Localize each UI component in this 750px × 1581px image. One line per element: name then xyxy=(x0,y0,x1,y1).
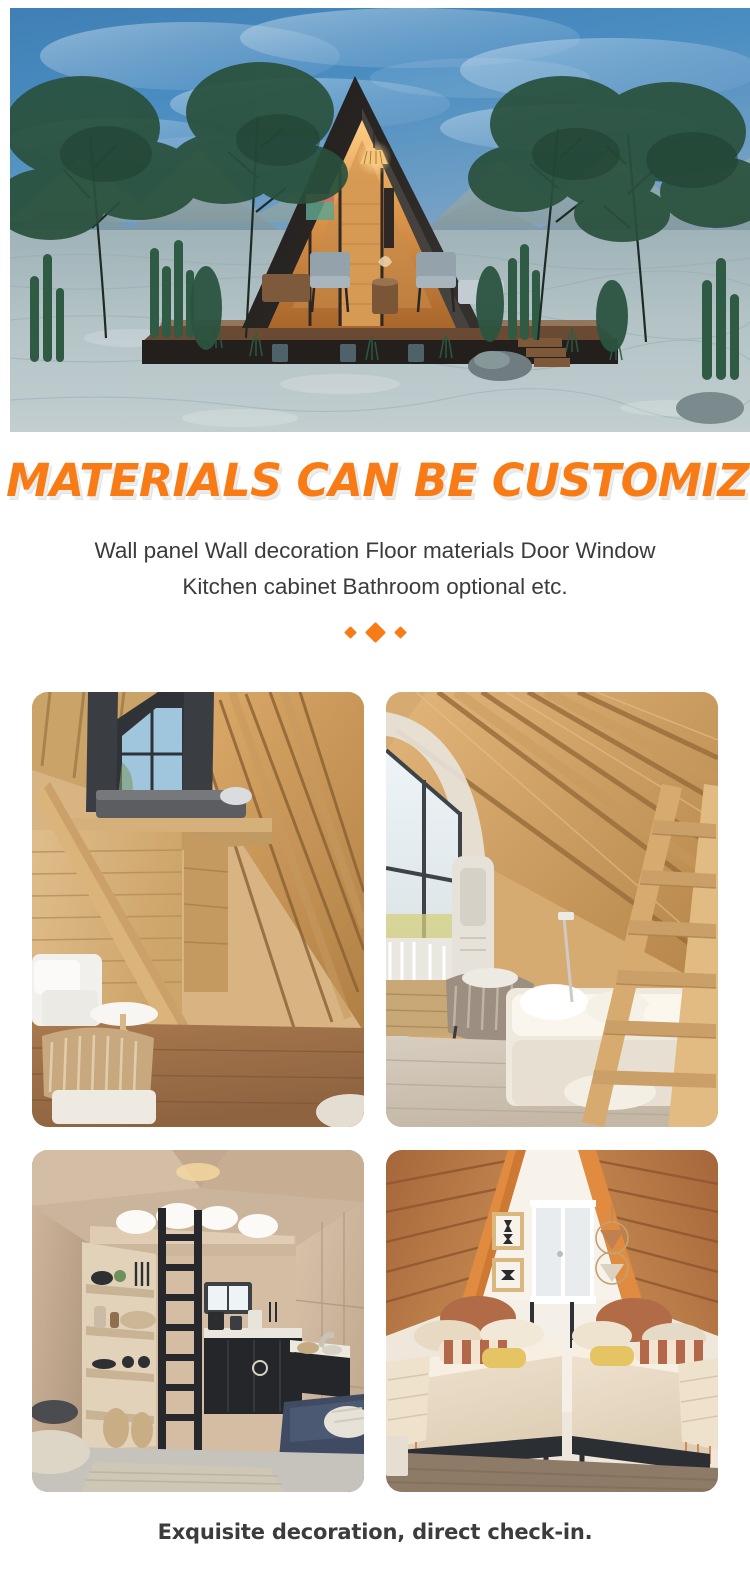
gallery-tile-3[interactable] xyxy=(32,1150,364,1492)
subtitle-text: Wall panel Wall decoration Floor materia… xyxy=(0,533,750,605)
gallery-tile-4[interactable] xyxy=(386,1150,718,1492)
diamond-icon-right xyxy=(394,626,407,639)
diamond-icon-center xyxy=(364,622,385,643)
gallery-tile-2[interactable] xyxy=(386,692,718,1127)
headline-container: MATERIALS CAN BE CUSTOMIZED xyxy=(0,455,750,507)
footer-caption: Exquisite decoration, direct check-in. xyxy=(0,1520,750,1544)
marketing-page: MATERIALS CAN BE CUSTOMIZED Wall panel W… xyxy=(0,0,750,1581)
photo-gallery xyxy=(32,692,718,1492)
gallery-tile-1[interactable] xyxy=(32,692,364,1127)
diamond-divider xyxy=(0,625,750,640)
page-title: MATERIALS CAN BE CUSTOMIZED xyxy=(6,455,750,507)
hero-image xyxy=(10,8,750,432)
diamond-icon-left xyxy=(344,626,357,639)
